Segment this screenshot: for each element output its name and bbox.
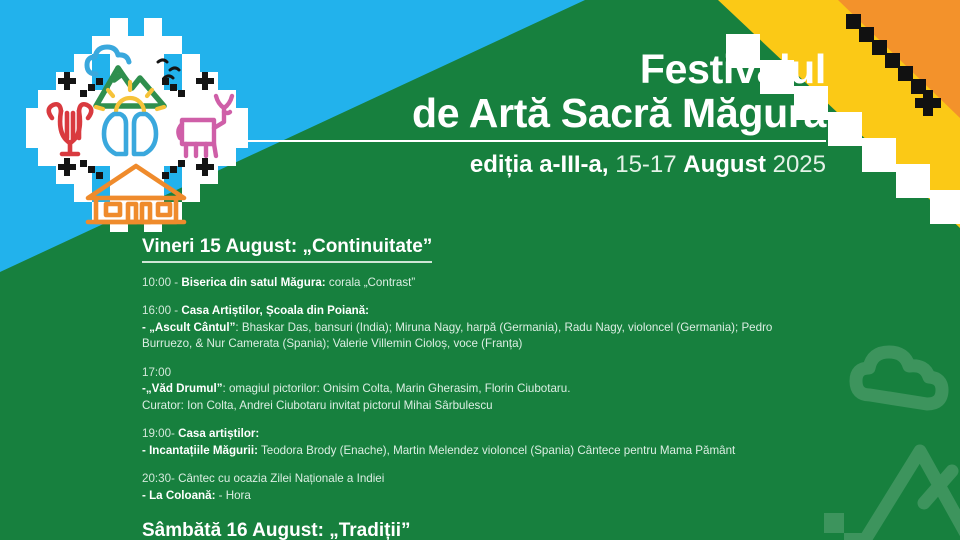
slot-time: 10:00 - <box>142 276 178 289</box>
program-slot: 20:30- Cântec cu ocazia Zilei Naționale … <box>142 471 950 504</box>
festival-logo <box>18 12 254 232</box>
slot-detail: : omagiul pictorilor: Onisim Colta, Mari… <box>223 382 571 395</box>
program-slot: 16:00 - Casa Artiștilor, Școala din Poia… <box>142 303 950 352</box>
slot-detail: Cântec cu ocazia Zilei Naționale a Indie… <box>175 472 384 485</box>
day-heading-saturday: Sâmbătă 16 August: „Tradiții” <box>142 520 411 540</box>
slot-venue: Casa artiștilor: <box>178 427 259 440</box>
slot-detail: corala „Contrast” <box>326 276 416 289</box>
program-slot: 10:00 - Biserica din satul Măgura: coral… <box>142 275 950 291</box>
year-label: 2025 <box>773 151 826 178</box>
slot-item-title: - „Ascult Cântul” <box>142 321 235 334</box>
slot-detail: Burruezo, & Nur Camerata (Spania); Valer… <box>142 337 522 350</box>
slot-venue: Casa Artiștilor, Școala din Poiană: <box>181 304 369 317</box>
title-block: Festivalul de Artă Sacră Măgura ediția a… <box>236 48 826 180</box>
slot-detail: Teodora Brody (Enache), Martin Melendez … <box>258 444 735 457</box>
festival-poster: Festivalul de Artă Sacră Măgura ediția a… <box>0 0 960 540</box>
slot-detail: : Bhaskar Das, bansuri (India); Miruna N… <box>235 321 772 334</box>
program-list: Vineri 15 August: „Continuitate” 10:00 -… <box>142 236 950 540</box>
festival-title-line1: Festivalul <box>236 48 826 91</box>
slot-item-title: - La Coloană: <box>142 489 215 502</box>
slot-venue: Biserica din satul Măgura: <box>181 276 325 289</box>
slot-detail: - Hora <box>215 489 250 502</box>
festival-title-line2: de Artă Sacră Măgura <box>236 91 826 142</box>
plus-motif-icon <box>915 90 941 116</box>
month-label: August <box>683 151 766 178</box>
stair-step-4 <box>862 138 896 172</box>
stair-step-6 <box>930 190 960 224</box>
stair-step-3 <box>828 112 862 146</box>
dates-label: 15-17 <box>615 151 676 178</box>
slot-detail: Curator: Ion Colta, Andrei Ciubotaru inv… <box>142 399 493 412</box>
stair-step-5 <box>896 164 930 198</box>
slot-time: 19:00- <box>142 427 175 440</box>
slot-time: 16:00 - <box>142 304 178 317</box>
slot-item-title: - Incantațiile Măgurii: <box>142 444 258 457</box>
program-slot: 19:00- Casa artiștilor: - Incantațiile M… <box>142 426 950 459</box>
slot-time: 17:00 <box>142 366 171 379</box>
program-slot: 17:00 -„Văd Drumul”: omagiul pictorilor:… <box>142 365 950 414</box>
day-heading-friday: Vineri 15 August: „Continuitate” <box>142 236 432 263</box>
edition-label: ediția a-III-a, <box>470 151 609 178</box>
slot-time: 20:30- <box>142 472 175 485</box>
slot-item-title: -„Văd Drumul” <box>142 382 223 395</box>
festival-subtitle: ediția a-III-a, 15-17 August 2025 <box>236 151 826 180</box>
